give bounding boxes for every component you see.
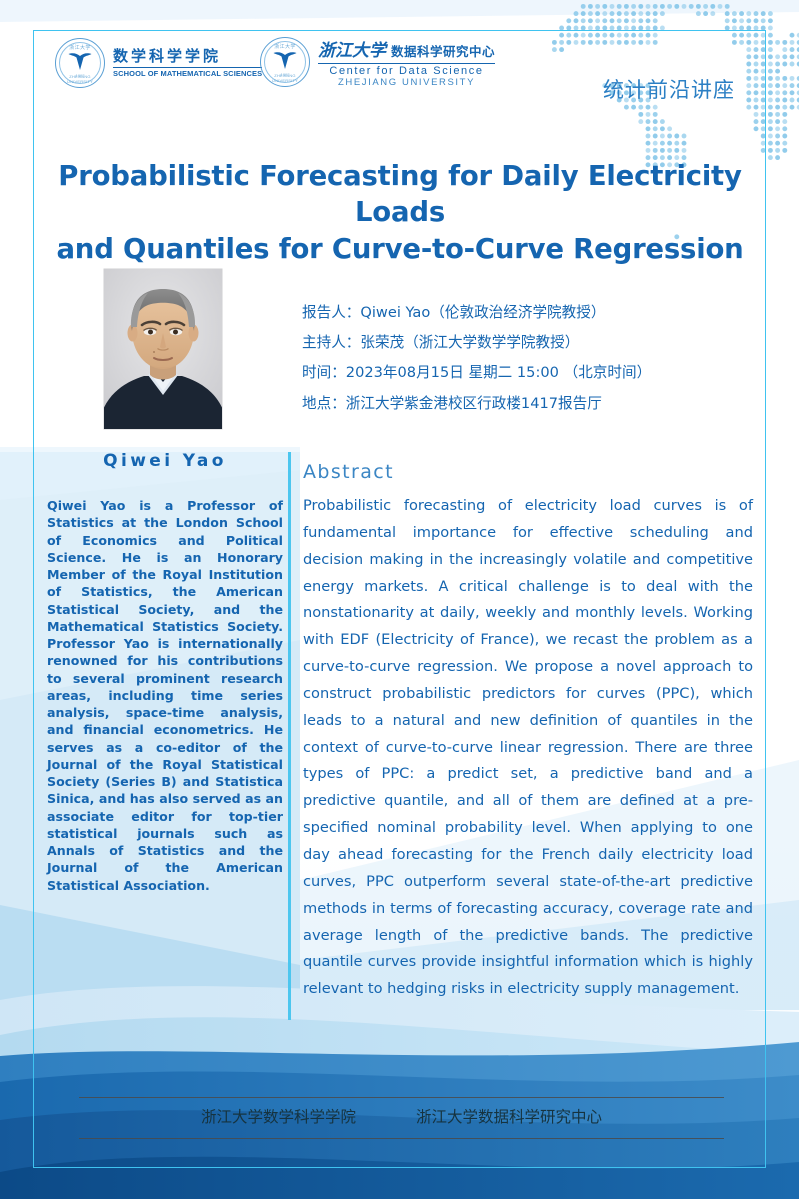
seminar-poster: 浙江大学 1897 ZHEJIANG UNIVERSITY 数学科学学院 SCH… <box>0 0 799 1199</box>
footer-right-org: 浙江大学数据科学研究中心 <box>416 1108 602 1126</box>
abstract-body: Probabilistic forecasting of electricity… <box>303 493 753 1003</box>
event-details: 报告人：Qiwei Yao（伦敦政治经济学院教授） 主持人：张荣茂（浙江大学数学… <box>302 298 772 419</box>
logo-math-rule <box>113 67 262 68</box>
zju-seal-icon: 浙江大学 1897 ZHEJIANG UNIVERSITY <box>55 38 105 88</box>
speaker-biography: Qiwei Yao is a Professor of Statistics a… <box>47 497 283 894</box>
seal-bottom-text: ZHEJIANG UNIVERSITY <box>261 73 309 83</box>
speaker-name: Qiwei Yao <box>40 451 290 471</box>
zju-seal-icon: 浙江大学 1897 ZHEJIANG UNIVERSITY <box>260 37 310 87</box>
detail-venue-row: 地点：浙江大学紫金港校区行政楼1417报告厅 <box>302 389 772 419</box>
logo-math-cn-label: 数学科学学院 <box>113 48 262 65</box>
vertical-divider <box>288 452 291 1020</box>
detail-speaker-row: 报告人：Qiwei Yao（伦敦政治经济学院教授） <box>302 298 772 328</box>
lecture-series-badge: 统计前沿讲座 <box>603 74 735 104</box>
speaker-portrait-photo <box>104 269 222 429</box>
logo-cds-en-line1: Center for Data Science <box>318 65 495 77</box>
logo-school-of-mathematical-sciences: 浙江大学 1897 ZHEJIANG UNIVERSITY 数学科学学院 SCH… <box>55 38 262 88</box>
title-line-2: and Quantiles for Curve-to-Curve Regress… <box>40 231 760 267</box>
detail-host-row: 主持人：张荣茂（浙江大学数学学院教授） <box>302 328 772 358</box>
zju-qiushi-bird-icon <box>67 50 93 72</box>
logo-cds-en-line2: ZHEJIANG UNIVERSITY <box>318 77 495 88</box>
detail-time-row: 时间：2023年08月15日 星期二 15:00 （北京时间） <box>302 358 772 388</box>
logo-cds-rule <box>318 63 495 64</box>
title-line-1: Probabilistic Forecasting for Daily Elec… <box>40 158 760 231</box>
logo-math-en-label: SCHOOL OF MATHEMATICAL SCIENCES <box>113 69 262 78</box>
footer-organizations: 浙江大学数学科学学院 浙江大学数据科学研究中心 <box>79 1105 724 1127</box>
zju-qiushi-bird-icon <box>272 49 298 71</box>
logo-cds-university-label: 浙江大学 <box>318 36 386 61</box>
seal-bottom-text: ZHEJIANG UNIVERSITY <box>56 74 104 84</box>
logo-center-for-data-science: 浙江大学 1897 ZHEJIANG UNIVERSITY 浙江大学 数据科学研… <box>260 36 495 88</box>
poster-header: 浙江大学 1897 ZHEJIANG UNIVERSITY 数学科学学院 SCH… <box>33 30 766 94</box>
poster-title: Probabilistic Forecasting for Daily Elec… <box>40 158 760 267</box>
footer-rule-top <box>79 1097 724 1098</box>
footer-rule-bottom <box>79 1138 724 1139</box>
footer-left-org: 浙江大学数学科学学院 <box>201 1108 356 1126</box>
logo-cds-center-label: 数据科学研究中心 <box>391 41 495 60</box>
abstract-heading: Abstract <box>303 461 394 483</box>
